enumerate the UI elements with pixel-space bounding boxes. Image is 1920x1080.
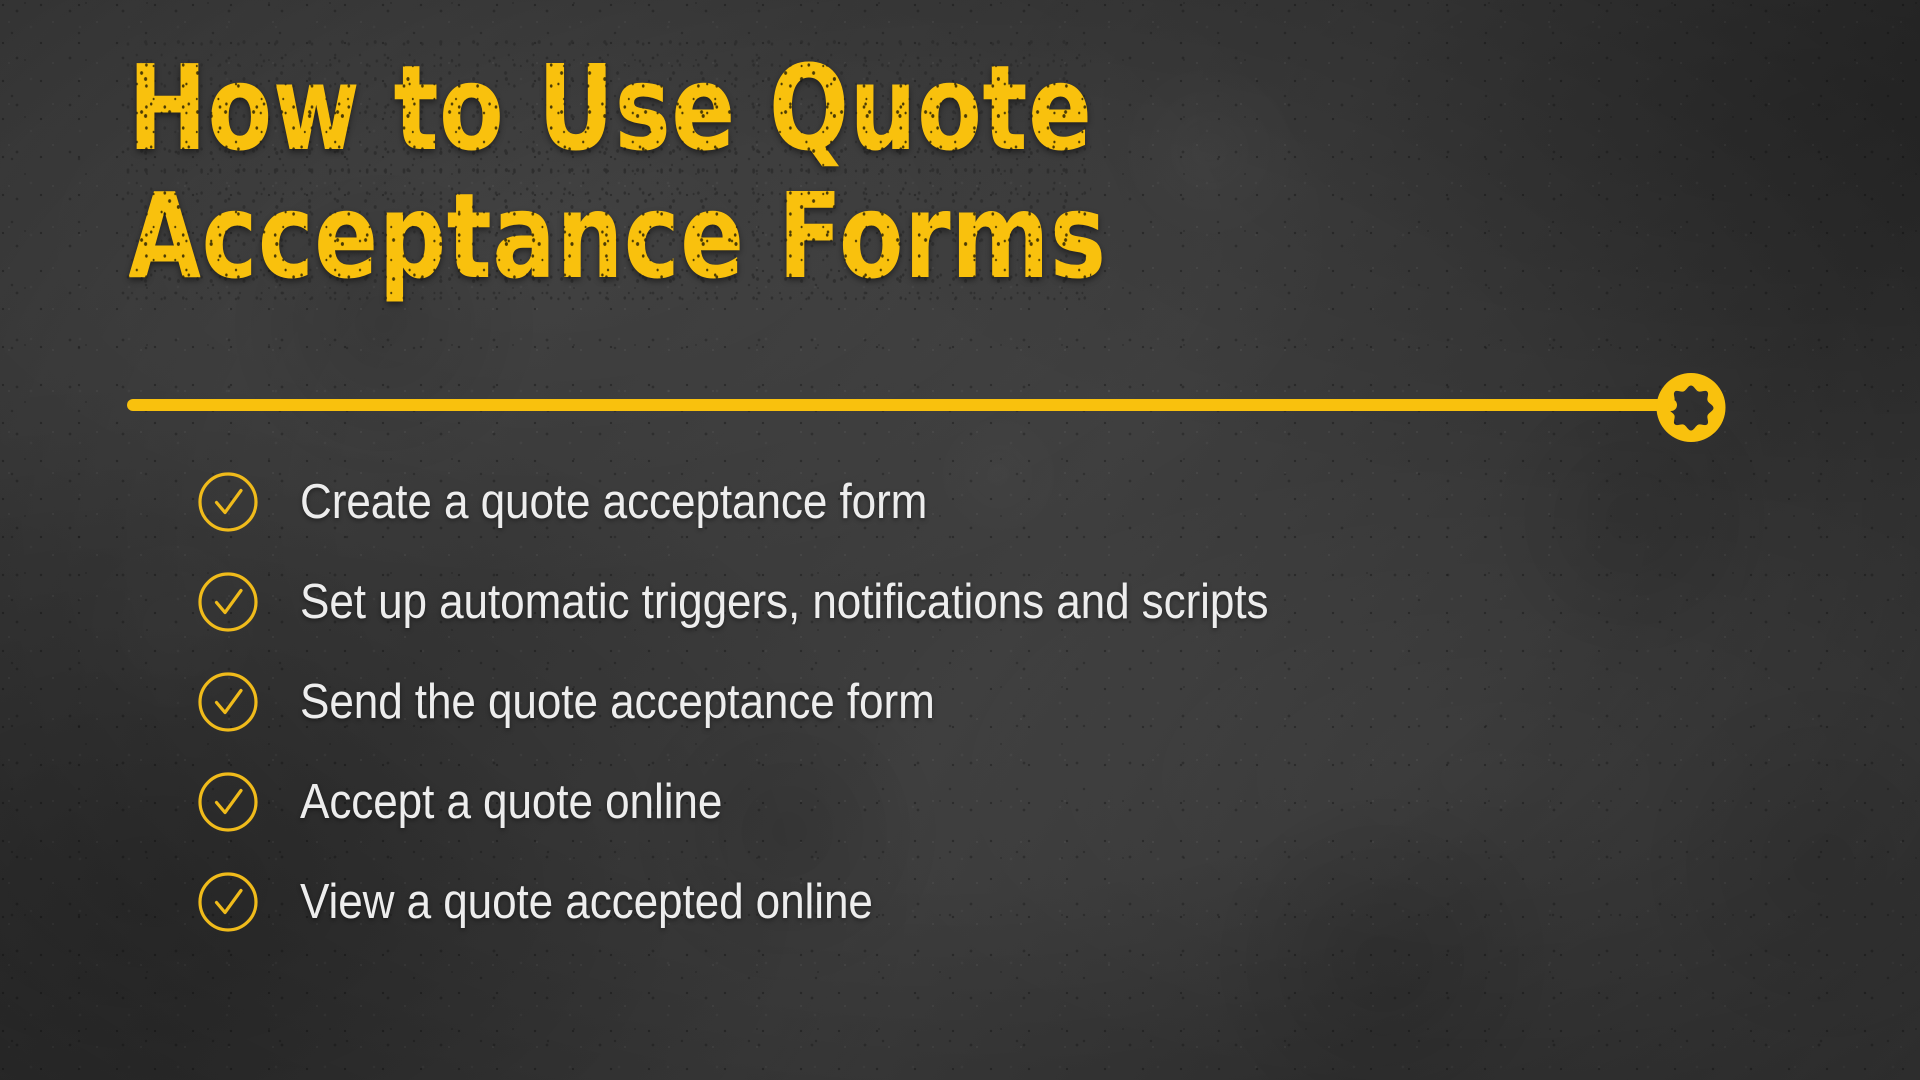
checklist: Create a quote acceptance form Set up au… (0, 452, 1920, 952)
check-circle-icon (197, 471, 259, 533)
list-item-label: Accept a quote online (300, 774, 722, 830)
list-item[interactable]: View a quote accepted online (0, 852, 1920, 952)
check-circle-icon (197, 771, 259, 833)
title-line-1-text: How to Use Quote (128, 39, 1092, 177)
list-item[interactable]: Set up automatic triggers, notifications… (0, 552, 1920, 652)
list-item[interactable]: Accept a quote online (0, 752, 1920, 852)
title-line-1: How to Use Quote (128, 44, 1088, 172)
list-item-label: Set up automatic triggers, notifications… (300, 574, 1268, 630)
list-item[interactable]: Create a quote acceptance form (0, 452, 1920, 552)
list-item-label: Send the quote acceptance form (300, 674, 935, 730)
title-line-2: Acceptance Forms (128, 172, 1088, 300)
list-item[interactable]: Send the quote acceptance form (0, 652, 1920, 752)
list-item-label: View a quote accepted online (300, 874, 873, 930)
title-line-2-text: Acceptance Forms (128, 167, 1106, 305)
check-circle-icon (197, 571, 259, 633)
list-item-label: Create a quote acceptance form (300, 474, 927, 530)
check-circle-icon (197, 671, 259, 733)
slide-title: How to Use Quote Acceptance Forms (128, 44, 1328, 300)
presentation-slide: How to Use Quote Acceptance Forms (0, 0, 1920, 1080)
check-circle-icon (197, 871, 259, 933)
